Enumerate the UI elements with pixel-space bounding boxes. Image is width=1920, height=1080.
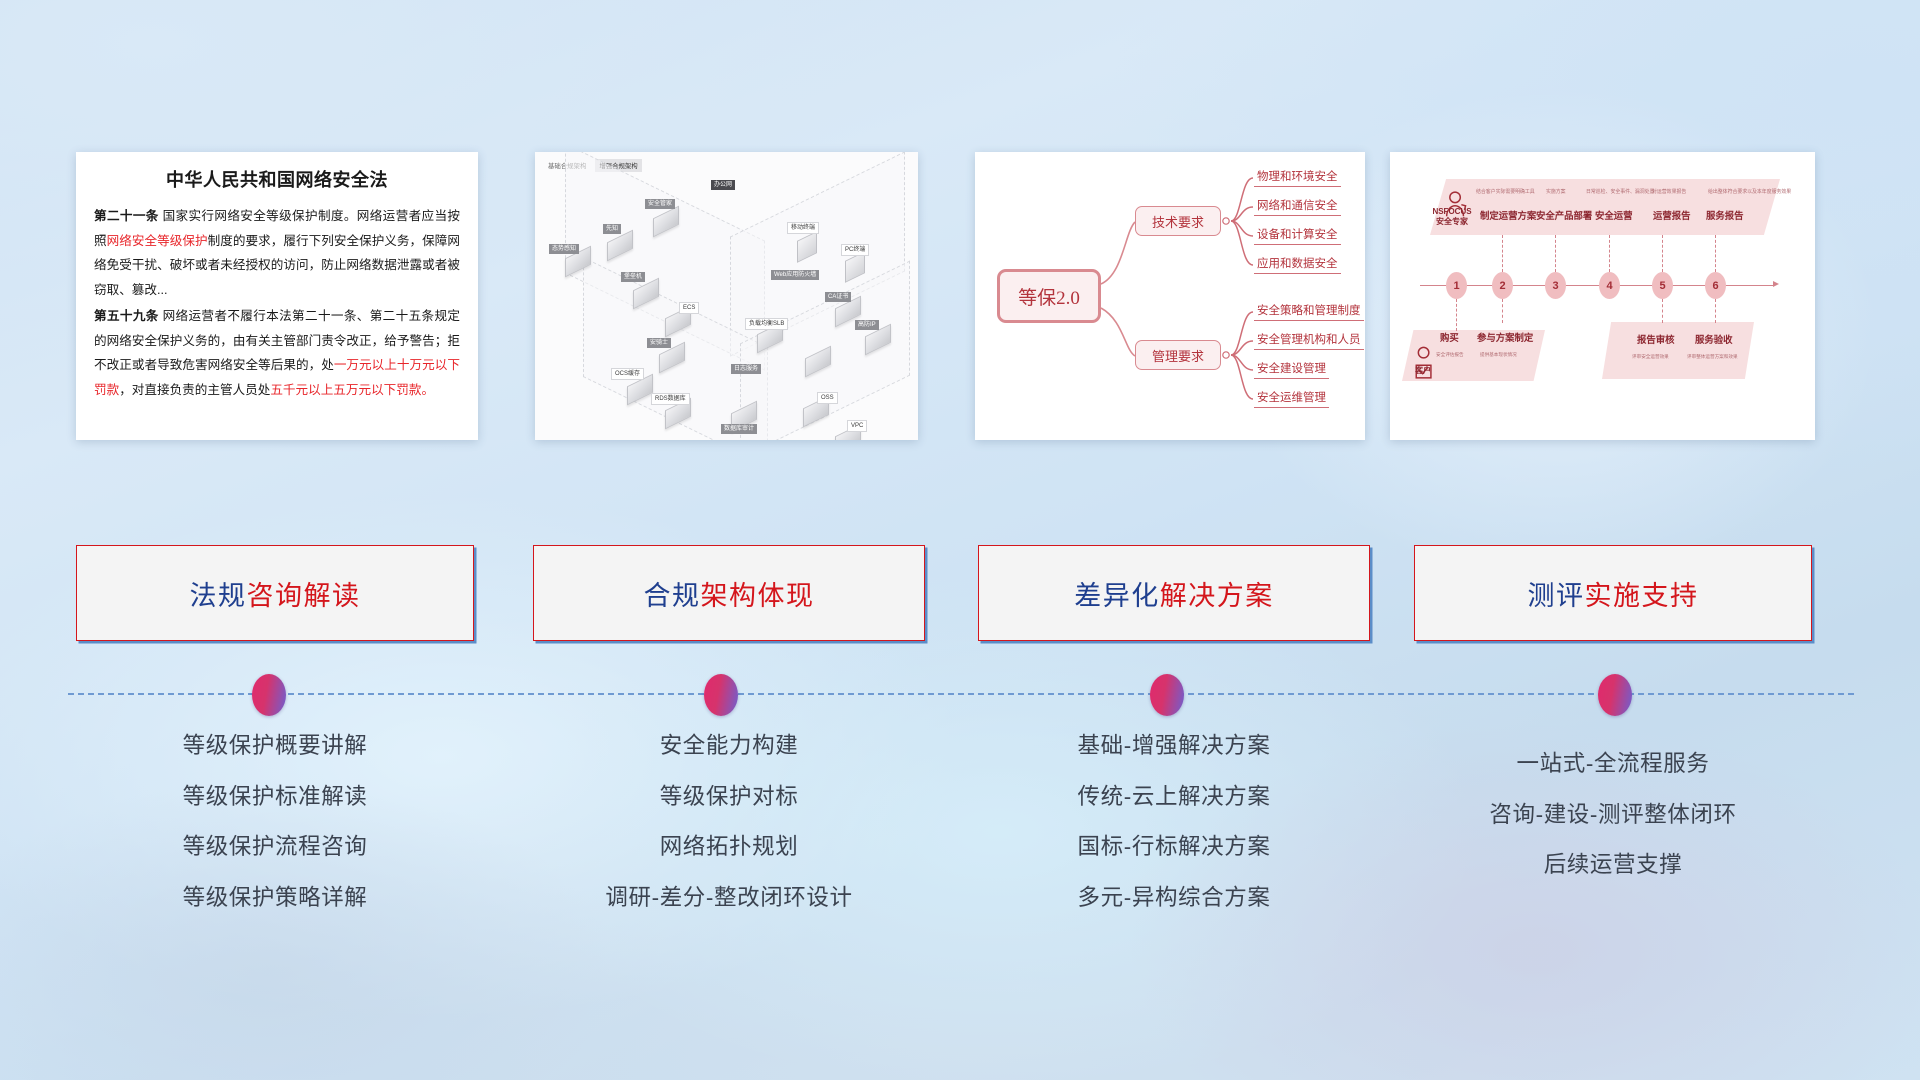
roadmap-step4-subtitle: 日常巡检、安全事件、漏洞处置 xyxy=(1586,188,1654,195)
mind-map-leaf-security-org-personnel: 安全管理机构和人员 xyxy=(1254,331,1364,350)
architecture-label-mobile-terminal: 移动终端 xyxy=(787,222,819,234)
architecture-label-anqishi: 安骑士 xyxy=(647,338,671,348)
pillar-heading-3-red: 实施支持 xyxy=(1585,574,1699,613)
roadmap-step2-subtitle: 结合客户实际需要明确工具 xyxy=(1476,188,1535,195)
roadmap-step6-bottom-title: 服务验收 xyxy=(1695,332,1733,346)
mind-map-leaf-security-policy-system: 安全策略和管理制度 xyxy=(1254,302,1364,321)
pillar-items-assessment-support: 一站式-全流程服务 咨询-建设-测评整体闭环 后续运营支撑 xyxy=(1414,753,1812,905)
architecture-label-log-service: 日志服务 xyxy=(731,364,761,374)
timeline-node-4[interactable] xyxy=(1598,674,1632,716)
architecture-label-bastion-host: 堡垒机 xyxy=(621,272,645,282)
pillar-heading-0-blue: 法规 xyxy=(190,574,247,613)
roadmap-step-marker-4[interactable]: 4 xyxy=(1599,272,1620,299)
architecture-diagram: 基础合规架构 增强合规架构 态势感知 先知 xyxy=(535,152,918,440)
pillar-heading-1-blue: 合规 xyxy=(644,574,701,613)
roadmap-step6-bottom-subtitle: 评审整体运营方案和效果 xyxy=(1687,354,1738,360)
law-article-21-run-1: 网络安全等级保护 xyxy=(107,234,208,248)
roadmap-step-marker-1[interactable]: 1 xyxy=(1446,272,1467,299)
list-item: 网络拓扑规划 xyxy=(533,836,925,859)
architecture-label-security-butler: 安全管家 xyxy=(645,199,675,209)
mind-map-leaf-network-communication-security: 网络和通信安全 xyxy=(1254,197,1341,216)
roadmap-step3-subtitle: 实施方案 xyxy=(1546,188,1566,195)
reference-cards-row: 中华人民共和国网络安全法 第二十一条 国家实行网络安全等级保护制度。网络运营者应… xyxy=(0,152,1920,442)
mind-map: 等保2.0 技术要求 管理要求 物理和环境安全 网络和通信安全 设备和计算安全 … xyxy=(975,152,1365,440)
list-item: 一站式-全流程服务 xyxy=(1414,753,1812,776)
compliance-architecture-card[interactable]: 基础合规架构 增强合规架构 态势感知 先知 xyxy=(535,152,918,440)
list-item: 等级保护策略详解 xyxy=(76,887,474,910)
list-item: 基础-增强解决方案 xyxy=(978,735,1370,758)
timeline-node-1[interactable] xyxy=(252,674,286,716)
list-item: 安全能力构建 xyxy=(533,735,925,758)
timeline-dashed-line xyxy=(68,693,1854,695)
roadmap-step1-bottom-subtitle: 安全评估报告 xyxy=(1436,352,1464,358)
architecture-label-ecs: ECS xyxy=(679,302,699,314)
roadmap-leader-step6-top xyxy=(1715,235,1716,272)
roadmap-step5-bottom-subtitle: 评审安全运营效果 xyxy=(1632,354,1669,360)
list-item: 等级保护概要讲解 xyxy=(76,735,474,758)
architecture-label-waf: Web应用防火墙 xyxy=(771,270,819,280)
service-roadmap: NSFOCUS 安全专家 客户 结合客户实际需要明确工具 实施方案 日常巡检、安… xyxy=(1390,152,1815,440)
roadmap-role-customer: 客户 xyxy=(1406,366,1440,376)
architecture-label-xianzhi: 先知 xyxy=(603,224,621,234)
roadmap-step6-title: 服务报告 xyxy=(1706,208,1744,222)
cybersecurity-law-card[interactable]: 中华人民共和国网络安全法 第二十一条 国家实行网络安全等级保护制度。网络运营者应… xyxy=(76,152,478,440)
pillar-heading-3-blue: 测评 xyxy=(1528,574,1585,613)
mind-map-leaf-application-data-security: 应用和数据安全 xyxy=(1254,255,1341,274)
roadmap-step-marker-5[interactable]: 5 xyxy=(1652,272,1673,299)
law-article-59-run-2: ，对直接负责的主管人员处 xyxy=(119,383,270,397)
law-article-59-run-3: 五千元以上五万元以下罚款。 xyxy=(270,383,434,397)
mind-map-root: 等保2.0 xyxy=(997,269,1101,323)
mind-map-leaf-device-computing-security: 设备和计算安全 xyxy=(1254,226,1341,245)
mind-map-leaf-security-construction-mgmt: 安全建设管理 xyxy=(1254,360,1329,379)
law-article-59-number: 第五十九条 xyxy=(94,309,159,323)
roadmap-role-vendor-line1: NSFOCUS xyxy=(1424,207,1480,217)
law-article-21-number: 第二十一条 xyxy=(94,209,159,223)
mind-map-leaf-security-ops-mgmt: 安全运维管理 xyxy=(1254,389,1329,408)
mind-map-branch-management: 管理要求 xyxy=(1135,340,1221,370)
architecture-label-ca-cert: CA证书 xyxy=(825,292,851,302)
roadmap-step-marker-2[interactable]: 2 xyxy=(1492,272,1513,299)
list-item: 传统-云上解决方案 xyxy=(978,786,1370,809)
timeline-node-2[interactable] xyxy=(704,674,738,716)
law-title: 中华人民共和国网络安全法 xyxy=(94,166,460,192)
pillar-headings-row: 法规咨询解读 合规架构体现 差异化解决方案 测评实施支持 xyxy=(0,545,1920,641)
roadmap-leader-step2-bottom xyxy=(1502,299,1503,323)
law-article-21: 第二十一条 国家实行网络安全等级保护制度。网络运营者应当按照网络安全等级保护制度… xyxy=(94,204,460,302)
architecture-label-db-audit: 数据库审计 xyxy=(721,424,757,434)
roadmap-leader-step5-top xyxy=(1662,235,1663,272)
list-item: 等级保护标准解读 xyxy=(76,786,474,809)
roadmap-step5-title: 运营报告 xyxy=(1653,208,1691,222)
list-item: 后续运营支撑 xyxy=(1414,854,1812,877)
architecture-label-office-network: 办公网 xyxy=(711,180,735,190)
roadmap-role-vendor-line2: 安全专家 xyxy=(1424,217,1480,227)
list-item: 国标-行标解决方案 xyxy=(978,836,1370,859)
timeline-node-3[interactable] xyxy=(1150,674,1184,716)
roadmap-step2-title: 制定运营方案 xyxy=(1480,208,1536,222)
timeline xyxy=(0,664,1920,724)
pillar-heading-0-red: 咨询解读 xyxy=(247,574,361,613)
roadmap-role-vendor: NSFOCUS 安全专家 xyxy=(1424,207,1480,227)
architecture-label-slb: 负载均衡SLB xyxy=(745,318,788,330)
roadmap-step6-subtitle: 给出整体符合要求以及本年度服务效果 xyxy=(1708,188,1791,195)
mind-map-leaf-physical-environment-security: 物理和环境安全 xyxy=(1254,168,1341,187)
mind-map-branch-technical: 技术要求 xyxy=(1135,206,1221,236)
pillar-heading-1-red: 架构体现 xyxy=(701,574,815,613)
architecture-label-vpc: VPC xyxy=(847,420,867,432)
roadmap-step2-bottom-subtitle: 提供基本现状情况 xyxy=(1480,352,1517,358)
roadmap-step3-title: 安全产品部署 xyxy=(1536,208,1592,222)
roadmap-step-marker-3[interactable]: 3 xyxy=(1545,272,1566,299)
law-document: 中华人民共和国网络安全法 第二十一条 国家实行网络安全等级保护制度。网络运营者应… xyxy=(76,152,478,402)
pillar-heading-2-blue: 差异化 xyxy=(1074,574,1160,613)
list-item: 等级保护对标 xyxy=(533,786,925,809)
roadmap-leader-step3-top xyxy=(1555,235,1556,272)
architecture-label-pc-terminal: PC终端 xyxy=(841,244,869,256)
architecture-label-oss: OSS xyxy=(817,392,838,404)
list-item: 多元-异构综合方案 xyxy=(978,887,1370,910)
roadmap-step5-bottom-title: 报告审核 xyxy=(1637,332,1675,346)
nsfocus-service-roadmap-card[interactable]: NSFOCUS 安全专家 客户 结合客户实际需要明确工具 实施方案 日常巡检、安… xyxy=(1390,152,1815,440)
roadmap-step2-bottom-title: 参与方案制定 xyxy=(1477,330,1533,344)
roadmap-step1-bottom-title: 购买 xyxy=(1440,330,1459,344)
architecture-label-situational-awareness: 态势感知 xyxy=(549,244,579,254)
pillar-items-differentiated-solution: 基础-增强解决方案 传统-云上解决方案 国标-行标解决方案 多元-异构综合方案 xyxy=(978,735,1370,937)
roadmap-leader-step6-bottom xyxy=(1715,299,1716,323)
roadmap-step-marker-6[interactable]: 6 xyxy=(1705,272,1726,299)
roadmap-axis-arrow-icon xyxy=(1773,281,1779,287)
roadmap-step4-title: 安全运营 xyxy=(1595,208,1633,222)
roadmap-leader-step2-top xyxy=(1502,235,1503,272)
list-item: 等级保护流程咨询 xyxy=(76,836,474,859)
pillar-details-row: 等级保护概要讲解 等级保护标准解读 等级保护流程咨询 等级保护策略详解 安全能力… xyxy=(0,735,1920,965)
roadmap-step5-subtitle: 对运营效果报告 xyxy=(1652,188,1686,195)
architecture-label-anti-ddos-ip: 高防IP xyxy=(855,320,879,330)
pillar-heading-assessment-support[interactable]: 测评实施支持 xyxy=(1414,545,1812,641)
list-item: 咨询-建设-测评整体闭环 xyxy=(1414,804,1812,827)
pillar-heading-2-red: 解决方案 xyxy=(1160,574,1274,613)
roadmap-leader-step4-top xyxy=(1609,235,1610,272)
architecture-label-ocs-cache: OCS缓存 xyxy=(611,368,644,380)
pillar-items-compliance-architecture: 安全能力构建 等级保护对标 网络拓扑规划 调研-差分-整改闭环设计 xyxy=(533,735,925,937)
list-item: 调研-差分-整改闭环设计 xyxy=(533,887,925,910)
dengbao-mindmap-card[interactable]: 等保2.0 技术要求 管理要求 物理和环境安全 网络和通信安全 设备和计算安全 … xyxy=(975,152,1365,440)
roadmap-leader-step1-bottom xyxy=(1456,299,1457,331)
pillar-heading-differentiated-solution[interactable]: 差异化解决方案 xyxy=(978,545,1370,641)
pillar-heading-regulation-consulting[interactable]: 法规咨询解读 xyxy=(76,545,474,641)
pillar-heading-compliance-architecture[interactable]: 合规架构体现 xyxy=(533,545,925,641)
pillar-items-regulation-consulting: 等级保护概要讲解 等级保护标准解读 等级保护流程咨询 等级保护策略详解 xyxy=(76,735,474,937)
architecture-label-rds-database: RDS数据库 xyxy=(651,393,690,405)
roadmap-leader-step5-bottom xyxy=(1662,299,1663,323)
law-article-59: 第五十九条 网络运营者不履行本法第二十一条、第二十五条规定的网络安全保护义务的，… xyxy=(94,304,460,402)
